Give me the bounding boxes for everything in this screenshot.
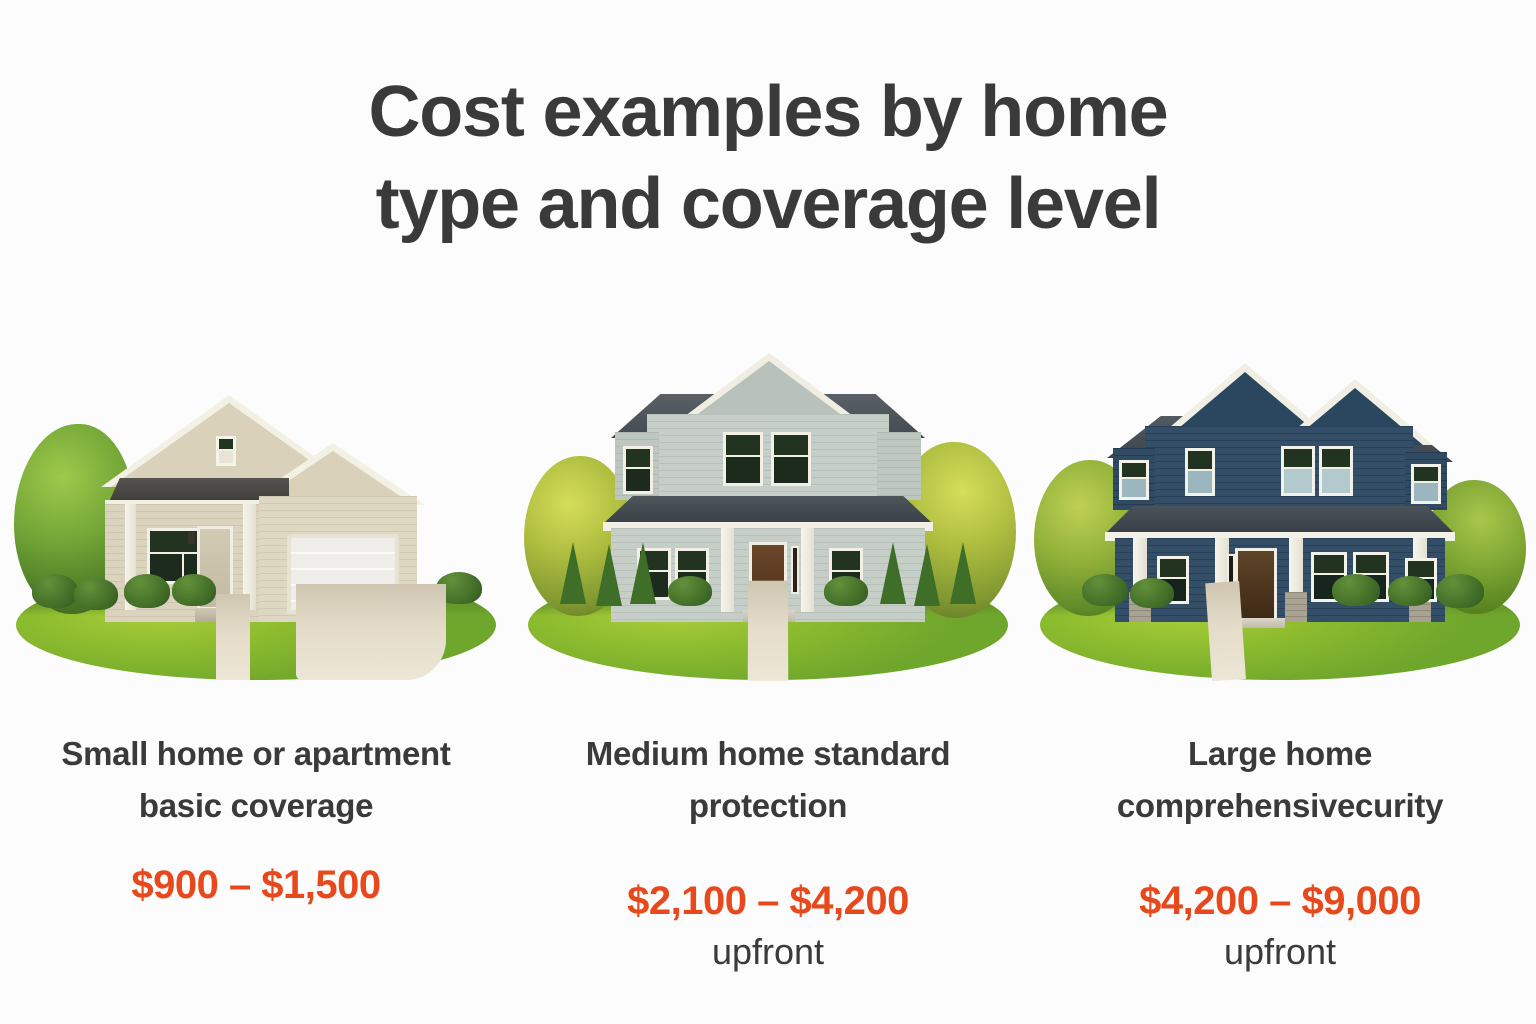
shrub-2 <box>74 578 118 610</box>
front-door <box>1235 548 1277 622</box>
driveway <box>296 584 446 680</box>
sidelight-window <box>791 546 799 594</box>
shrub-4 <box>172 574 216 606</box>
large-home-price-suffix: upfront <box>1045 928 1515 976</box>
cost-column-small-home: Small home or apartment basic coverage $… <box>6 330 506 912</box>
shrub-4 <box>1388 576 1432 606</box>
medium-home-illustration <box>518 330 1018 680</box>
shrub-1 <box>1082 574 1128 606</box>
large-home-price: $4,200 – $9,000 <box>1045 874 1515 928</box>
window-mullion <box>182 531 184 581</box>
porch-post-base-mid-right <box>1285 592 1307 622</box>
page-title: Cost examples by home type and coverage … <box>0 66 1536 250</box>
title-line-2: type and coverage level <box>0 158 1536 250</box>
porch-roof <box>603 496 933 524</box>
porch-post-right <box>801 528 814 612</box>
porch-lamp-icon <box>188 532 195 544</box>
conifer-1 <box>560 542 586 604</box>
medium-home-caption: Medium home standard protection <box>533 728 1003 832</box>
upper-window-left <box>623 446 653 494</box>
walkway <box>216 594 250 680</box>
second-story-body <box>647 414 889 500</box>
upper-window-center-right-a <box>1281 446 1315 496</box>
shrub-1 <box>32 574 78 608</box>
small-home-illustration <box>6 330 506 680</box>
small-home-price: $900 – $1,500 <box>21 858 491 912</box>
upper-window-center-right-b <box>1319 446 1353 496</box>
porch-post-mid-right <box>1289 538 1303 594</box>
conifer-3 <box>630 542 656 604</box>
large-home-caption: Large home comprehensivecurity <box>1045 728 1515 832</box>
shrub-2 <box>1130 578 1174 608</box>
gable-vent-window <box>216 436 236 466</box>
second-story-right-wing <box>877 432 921 500</box>
medium-home-price-suffix: upfront <box>533 928 1003 976</box>
upper-window-center-right <box>771 432 811 486</box>
conifer-6 <box>950 542 976 604</box>
shrub-3 <box>124 574 170 608</box>
walkway <box>748 581 789 681</box>
shrub-left <box>668 576 712 606</box>
walkway <box>1205 581 1246 681</box>
upper-window-left-wing <box>1119 460 1149 500</box>
conifer-4 <box>880 542 906 604</box>
porch-post-left <box>721 528 734 612</box>
title-line-1: Cost examples by home <box>0 66 1536 158</box>
medium-home-price: $2,100 – $4,200 <box>533 874 1003 928</box>
conifer-5 <box>914 544 940 606</box>
shrub-3 <box>1332 574 1380 606</box>
conifer-2 <box>596 544 622 606</box>
cost-columns: Small home or apartment basic coverage $… <box>0 330 1536 990</box>
upper-window-center-left <box>723 432 763 486</box>
upper-window-right-wing <box>1411 464 1441 504</box>
infographic-page: Cost examples by home type and coverage … <box>0 0 1536 1024</box>
upper-window-center-left <box>1185 448 1215 496</box>
center-gable-face <box>691 358 847 419</box>
shrub-5 <box>1436 574 1484 608</box>
shrub-right <box>824 576 868 606</box>
porch-roof <box>1105 506 1455 534</box>
large-home-illustration <box>1030 330 1530 680</box>
cost-column-medium-home: Medium home standard protection $2,100 –… <box>518 330 1018 976</box>
cost-column-large-home: Large home comprehensivecurity $4,200 – … <box>1030 330 1530 976</box>
small-home-caption: Small home or apartment basic coverage <box>21 728 491 832</box>
